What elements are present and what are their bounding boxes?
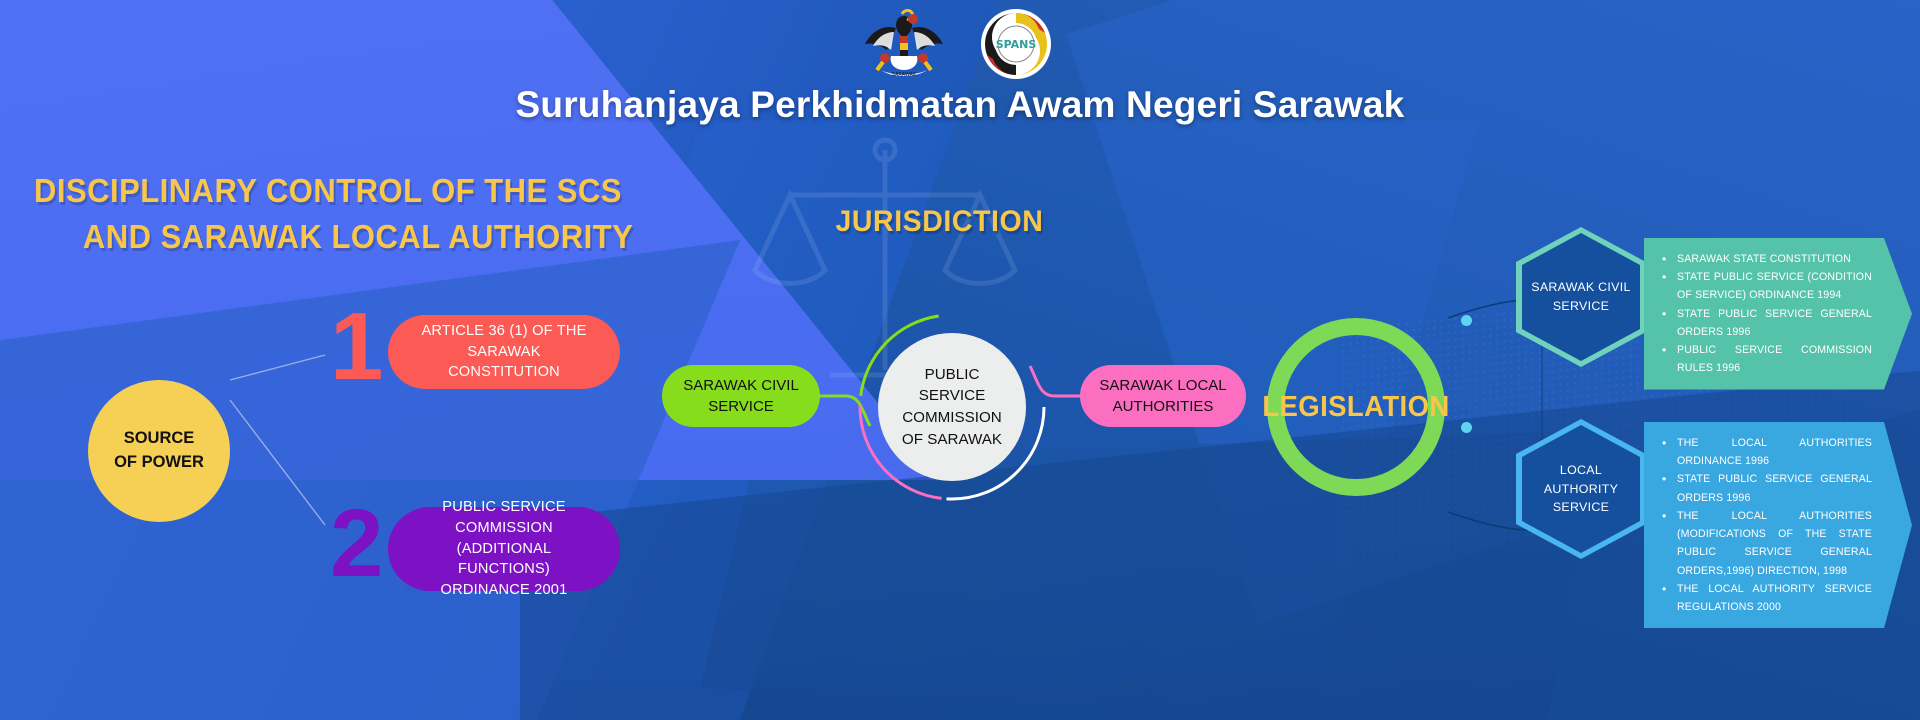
legislation-dot-top [1461,315,1472,326]
main-title-line-1: DISCIPLINARY CONTROL OF THE SCS [34,172,622,209]
jurisdiction-right-pill[interactable]: SARAWAK LOCAL AUTHORITIES [1080,365,1246,427]
source-item-2-number: 2 [330,496,383,592]
page-title: Suruhanjaya Perkhidmatan Awam Negeri Sar… [0,84,1920,126]
branch-2-banner: THE LOCAL AUTHORITIES ORDINANCE 1996 STA… [1644,422,1912,628]
list-item: THE LOCAL AUTHORITY SERVICE REGULATIONS … [1662,580,1872,616]
legislation-label: LEGISLATION [1271,318,1440,496]
header-logos: SARAWAK SPANS [0,6,1920,82]
source-item-1[interactable]: 1 ARTICLE 36 (1) OF THE SARAWAK CONSTITU… [330,315,620,389]
jurisdiction-heading: JURISDICTION [835,205,1043,239]
branch-2-list: THE LOCAL AUTHORITIES ORDINANCE 1996 STA… [1662,434,1872,616]
source-of-power-line-1: SOURCE [124,427,195,451]
source-item-1-number: 1 [330,299,383,395]
list-item: SARAWAK STATE CONSTITUTION [1662,250,1872,268]
main-title: DISCIPLINARY CONTROL OF THE SCS AND SARA… [34,168,636,259]
branch-1-list: SARAWAK STATE CONSTITUTION STATE PUBLIC … [1662,250,1872,378]
list-item: THE LOCAL AUTHORITIES ORDINANCE 1996 [1662,434,1872,470]
source-item-1-label: ARTICLE 36 (1) OF THE SARAWAK CONSTITUTI… [388,315,620,389]
svg-text:SPANS: SPANS [996,38,1037,51]
jurisdiction-center-node[interactable]: PUBLIC SERVICE COMMISSION OF SARAWAK [878,333,1026,481]
list-item: STATE PUBLIC SERVICE GENERAL ORDERS 1996 [1662,470,1872,506]
jurisdiction-left-pill[interactable]: SARAWAK CIVIL SERVICE [662,365,820,427]
list-item: STATE PUBLIC SERVICE GENERAL ORDERS 1996 [1662,305,1872,341]
list-item: THE LOCAL AUTHORITIES (MODIFICATIONS OF … [1662,507,1872,580]
svg-text:SARAWAK: SARAWAK [892,72,917,78]
header: SARAWAK SPANS Suruhanjaya Perkhidmatan A… [0,0,1920,140]
legislation-dot-bottom [1461,422,1472,433]
source-of-power-node[interactable]: SOURCE OF POWER [88,380,230,522]
spans-logo-icon: SPANS [973,6,1059,82]
list-item: STATE PUBLIC SERVICE (CONDITION OF SERVI… [1662,268,1872,304]
branch-1-banner: SARAWAK STATE CONSTITUTION STATE PUBLIC … [1644,238,1912,390]
main-title-line-2: AND SARAWAK LOCAL AUTHORITY [34,214,636,260]
sarawak-coat-of-arms-icon: SARAWAK [861,6,947,82]
source-item-2-label: PUBLIC SERVICE COMMISSION (ADDITIONAL FU… [388,507,620,591]
list-item: PUBLIC SERVICE COMMISSION RULES 1996 [1662,341,1872,377]
source-of-power-line-2: OF POWER [114,451,204,475]
source-item-2[interactable]: 2 PUBLIC SERVICE COMMISSION (ADDITIONAL … [330,512,620,586]
infographic-canvas: SARAWAK SPANS Suruhanjaya Perkhidmatan A… [0,0,1920,720]
